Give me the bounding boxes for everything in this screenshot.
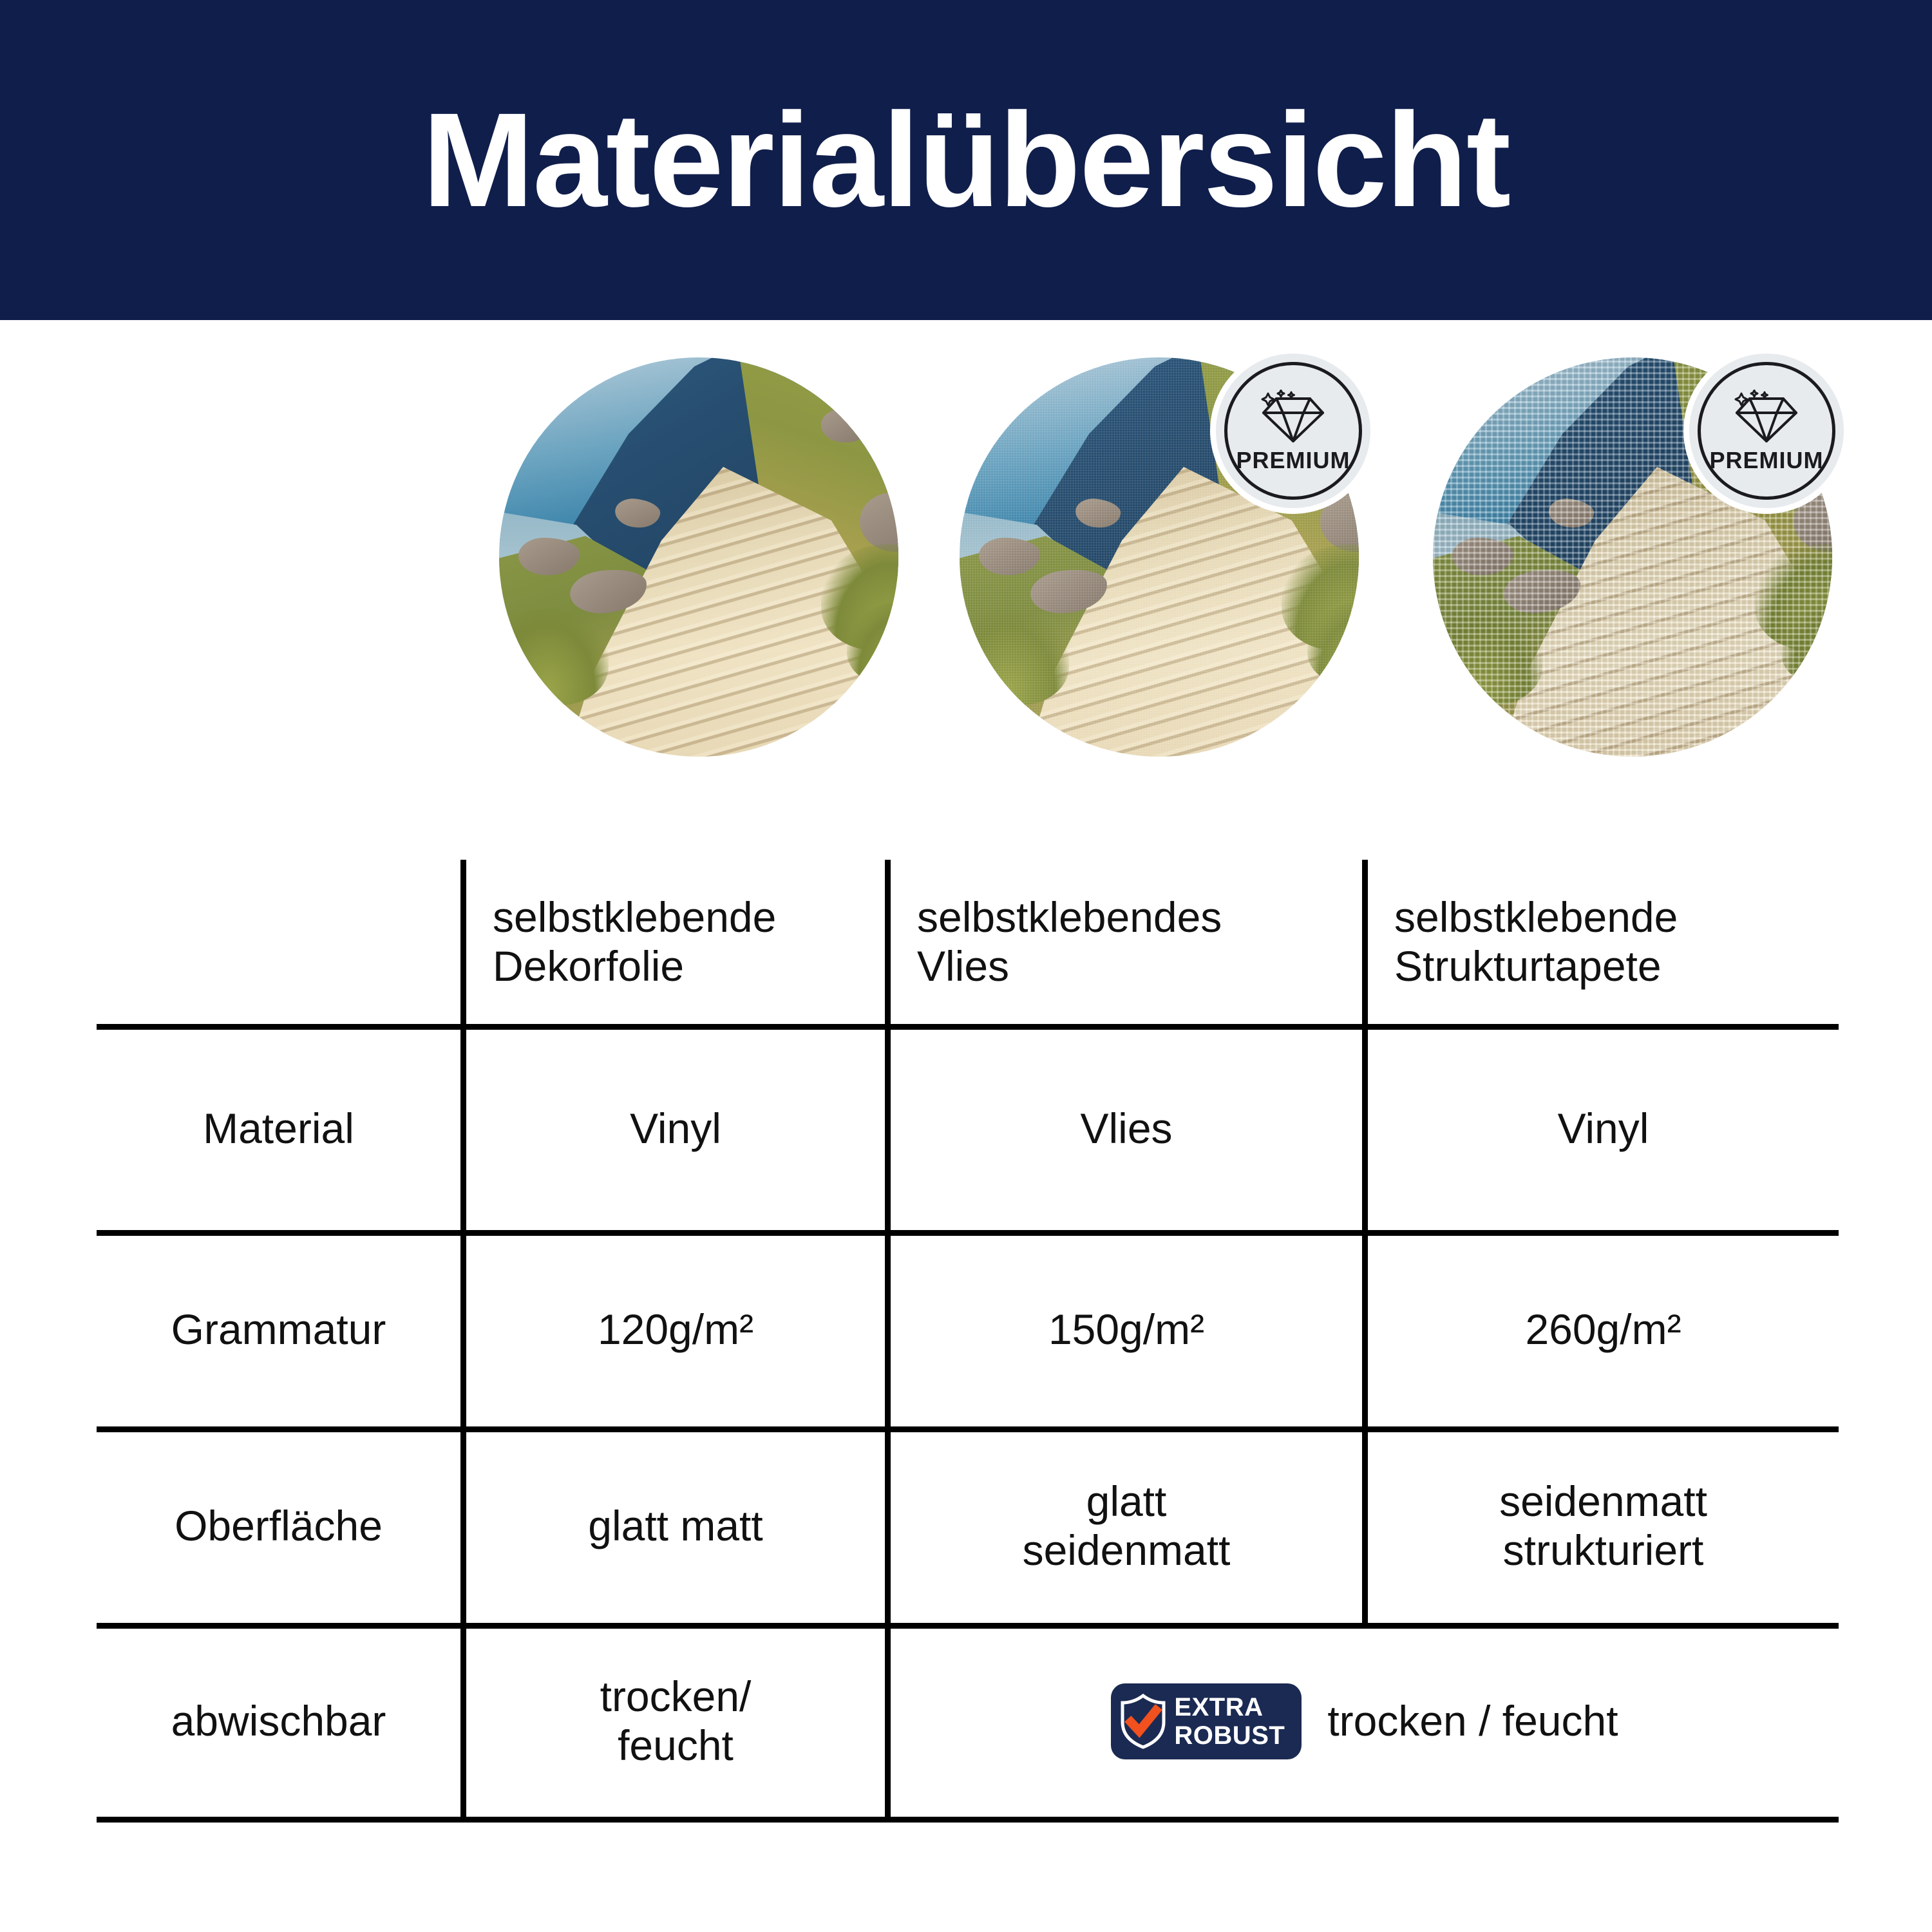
- column-header-line1: selbstklebendes: [917, 893, 1222, 942]
- dekorfolie-swatch[interactable]: [499, 357, 898, 757]
- column-header-line2: Strukturtapete: [1394, 942, 1662, 991]
- extra-robust-line1: EXTRA: [1174, 1694, 1285, 1720]
- material-overview-page: Materialübersicht: [0, 0, 1932, 1932]
- extra-robust-badge: EXTRA ROBUST: [1111, 1683, 1302, 1759]
- premium-badge: PREMIUM: [1689, 354, 1844, 508]
- diamond-icon: [1730, 390, 1803, 445]
- table-divider-3: [1362, 860, 1368, 1626]
- row-label-grammatur: Grammatur: [97, 1233, 460, 1426]
- column-header-line1: selbstklebende: [493, 893, 776, 942]
- cell-abwischbar-text: trocken / feucht: [1327, 1697, 1618, 1746]
- material-comparison-table: selbstklebende Dekorfolie selbstklebende…: [97, 860, 1839, 1823]
- column-header-strukturtapete: selbstklebende Strukturtapete: [1375, 860, 1839, 1024]
- row-label-oberflaeche: Oberfläche: [97, 1430, 460, 1623]
- cell-material-strukturtapete: Vinyl: [1368, 1027, 1839, 1230]
- diamond-icon: [1257, 390, 1329, 445]
- table-rule-bottom: [97, 1817, 1839, 1823]
- column-header-dekorfolie: selbstklebende Dekorfolie: [473, 860, 876, 1024]
- row-label-abwischbar: abwischbar: [97, 1626, 460, 1817]
- vlies-swatch[interactable]: PREMIUM: [960, 357, 1359, 757]
- column-header-line2: Vlies: [917, 942, 1009, 991]
- cell-grammatur-strukturtapete: 260g/m²: [1368, 1233, 1839, 1426]
- dekorfolie-swatch-image: [499, 357, 898, 757]
- shield-check-icon: [1120, 1694, 1166, 1749]
- cell-oberflaeche-vlies: glatt seidenmatt: [891, 1430, 1362, 1623]
- page-header: Materialübersicht: [0, 0, 1932, 320]
- strukturtapete-swatch[interactable]: PREMIUM: [1433, 357, 1832, 757]
- cell-material-vlies: Vlies: [891, 1027, 1362, 1230]
- cell-material-dekorfolie: Vinyl: [466, 1027, 885, 1230]
- extra-robust-line2: ROBUST: [1174, 1723, 1285, 1748]
- material-swatch-row: PREMIUM: [0, 351, 1932, 770]
- table-divider-1: [460, 860, 466, 1819]
- premium-badge-label: PREMIUM: [1236, 449, 1350, 472]
- page-title: Materialübersicht: [422, 93, 1510, 227]
- cell-grammatur-dekorfolie: 120g/m²: [466, 1233, 885, 1426]
- cell-grammatur-vlies: 150g/m²: [891, 1233, 1362, 1426]
- cell-oberflaeche-dekorfolie: glatt matt: [466, 1430, 885, 1623]
- column-header-line1: selbstklebende: [1394, 893, 1678, 942]
- column-header-vlies: selbstklebendes Vlies: [898, 860, 1355, 1024]
- premium-badge: PREMIUM: [1216, 354, 1370, 508]
- table-divider-2: [885, 860, 891, 1819]
- cell-abwischbar-dekorfolie: trocken/ feucht: [466, 1626, 885, 1817]
- column-header-line2: Dekorfolie: [493, 942, 684, 991]
- cell-abwischbar-merged: EXTRA ROBUST trocken / feucht: [891, 1626, 1839, 1817]
- row-label-material: Material: [97, 1027, 460, 1230]
- cell-oberflaeche-strukturtapete: seidenmatt strukturiert: [1368, 1430, 1839, 1623]
- premium-badge-label: PREMIUM: [1710, 449, 1824, 472]
